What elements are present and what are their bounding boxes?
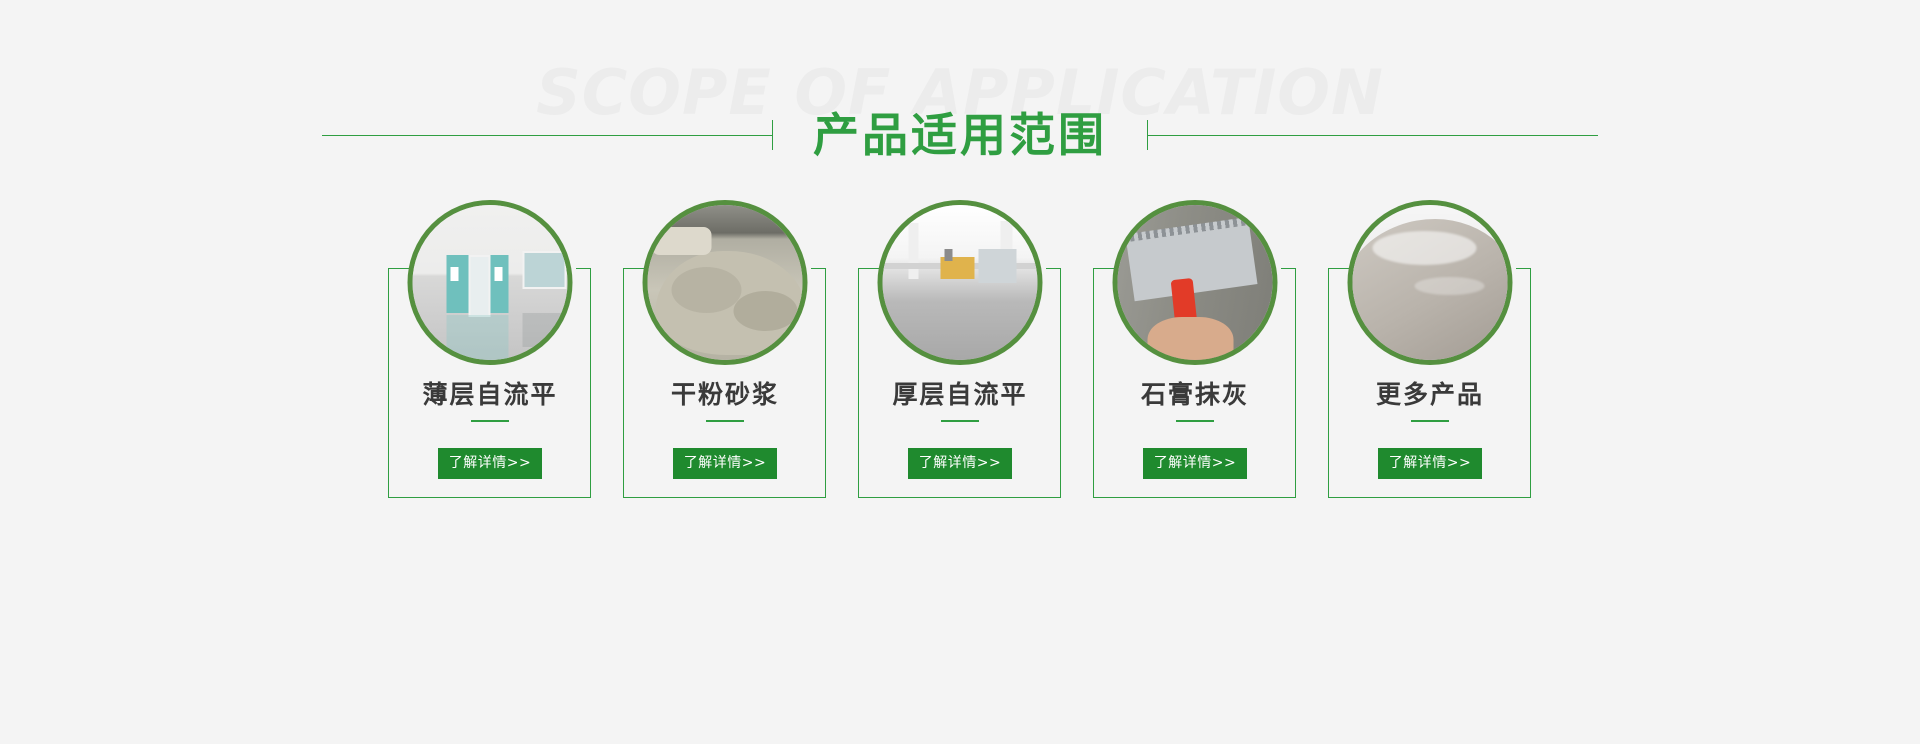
card-title-underline: [941, 420, 979, 422]
page-title: 产品适用范围: [773, 112, 1147, 158]
card-title: 更多产品: [1328, 380, 1533, 410]
card-body: 干粉砂浆 了解详情>>: [623, 380, 828, 479]
card-title-underline: [1411, 420, 1449, 422]
scope-of-application-section: SCOPE OF APPLICATION 产品适用范围: [0, 0, 1920, 744]
section-header: SCOPE OF APPLICATION 产品适用范围: [0, 60, 1920, 180]
product-card-thin-layer-self-leveling[interactable]: 薄层自流平 了解详情>>: [388, 200, 593, 500]
card-title: 薄层自流平: [388, 380, 593, 410]
product-card-more-products[interactable]: 更多产品 了解详情>>: [1328, 200, 1533, 500]
card-title: 石膏抹灰: [1093, 380, 1298, 410]
card-body: 石膏抹灰 了解详情>>: [1093, 380, 1298, 479]
card-title-underline: [1176, 420, 1214, 422]
card-title: 干粉砂浆: [623, 380, 828, 410]
gypsum-plastering-trowel-photo: [1118, 205, 1273, 360]
card-body: 更多产品 了解详情>>: [1328, 380, 1533, 479]
learn-more-button[interactable]: 了解详情>>: [1378, 448, 1482, 479]
more-products-photo: [1353, 205, 1508, 360]
card-title-underline: [706, 420, 744, 422]
product-image-circle: [408, 200, 573, 365]
product-card-list: 薄层自流平 了解详情>> 干粉砂浆 了解详情>>: [0, 200, 1920, 500]
title-row: 产品适用范围: [0, 112, 1920, 158]
divider-line-left: [322, 135, 772, 136]
card-title: 厚层自流平: [858, 380, 1063, 410]
product-image-circle: [878, 200, 1043, 365]
product-card-dry-powder-mortar[interactable]: 干粉砂浆 了解详情>>: [623, 200, 828, 500]
card-body: 薄层自流平 了解详情>>: [388, 380, 593, 479]
product-image-circle: [643, 200, 808, 365]
product-image-circle: [1113, 200, 1278, 365]
learn-more-button[interactable]: 了解详情>>: [908, 448, 1012, 479]
card-title-underline: [471, 420, 509, 422]
thick-layer-self-leveling-floor-photo: [883, 205, 1038, 360]
product-card-thick-layer-self-leveling[interactable]: 厚层自流平 了解详情>>: [858, 200, 1063, 500]
product-image-circle: [1348, 200, 1513, 365]
divider-line-right: [1148, 135, 1598, 136]
card-body: 厚层自流平 了解详情>>: [858, 380, 1063, 479]
learn-more-button[interactable]: 了解详情>>: [673, 448, 777, 479]
dry-powder-mortar-photo: [648, 205, 803, 360]
learn-more-button[interactable]: 了解详情>>: [438, 448, 542, 479]
learn-more-button[interactable]: 了解详情>>: [1143, 448, 1247, 479]
product-card-gypsum-plastering[interactable]: 石膏抹灰 了解详情>>: [1093, 200, 1298, 500]
thin-layer-self-leveling-floor-photo: [413, 205, 568, 360]
